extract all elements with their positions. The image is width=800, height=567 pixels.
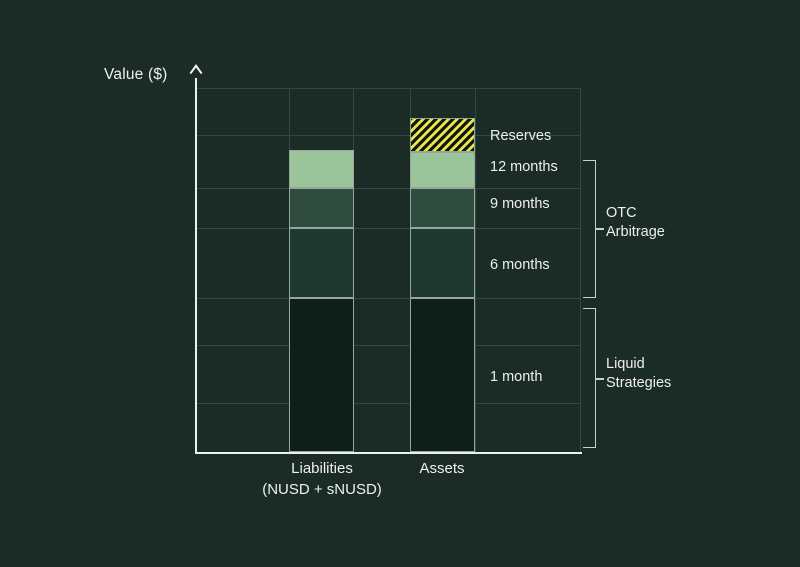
gridline (196, 228, 581, 229)
bar-segment-9-months[interactable] (410, 188, 475, 228)
bar-segment-9-months[interactable] (289, 188, 354, 228)
bar-segment-12-months[interactable] (410, 152, 475, 188)
gridline-vertical (475, 88, 476, 452)
y-axis-line (195, 78, 197, 453)
x-label-liabilities: Liabilities (258, 460, 386, 477)
bar-segment-12-months[interactable] (289, 150, 354, 188)
gridline (196, 88, 581, 89)
label-1-month: 1 month (490, 369, 542, 385)
gridline (196, 345, 581, 346)
label-12-months: 12 months (490, 159, 558, 175)
bracket-liquid-strategies (583, 308, 596, 448)
bar-segment-6-months[interactable] (410, 228, 475, 298)
gridline-vertical (580, 88, 581, 452)
group-label-otc-arbitrage: OTC Arbitrage (606, 204, 665, 242)
gridline (196, 298, 581, 299)
x-label-assets: Assets (381, 460, 503, 477)
label-6-months: 6 months (490, 257, 550, 273)
bar-segment-1-month[interactable] (289, 298, 354, 452)
bar-segment-6-months[interactable] (289, 228, 354, 298)
x-axis-line (195, 452, 582, 454)
group-label-liquid-strategies: Liquid Strategies (606, 355, 671, 393)
y-axis-title: Value ($) (104, 66, 168, 84)
chart-canvas: Value ($) Reserves 12 months 9 months 6 … (0, 0, 800, 567)
group-label-otc-line1: OTC (606, 204, 665, 223)
gridline (196, 188, 581, 189)
group-label-liquid-line1: Liquid (606, 355, 671, 374)
label-reserves: Reserves (490, 128, 551, 144)
bar-segment-1-month[interactable] (410, 298, 475, 452)
group-label-liquid-line2: Strategies (606, 374, 671, 393)
gridline (196, 403, 581, 404)
group-label-otc-line2: Arbitrage (606, 223, 665, 242)
bracket-tick-liquid-strategies (596, 378, 604, 380)
bar-segment-reserves[interactable] (410, 118, 475, 152)
bracket-tick-otc-arbitrage (596, 228, 604, 230)
x-sublabel-liabilities: (NUSD + sNUSD) (248, 481, 396, 498)
bracket-otc-arbitrage (583, 160, 596, 298)
label-9-months: 9 months (490, 196, 550, 212)
